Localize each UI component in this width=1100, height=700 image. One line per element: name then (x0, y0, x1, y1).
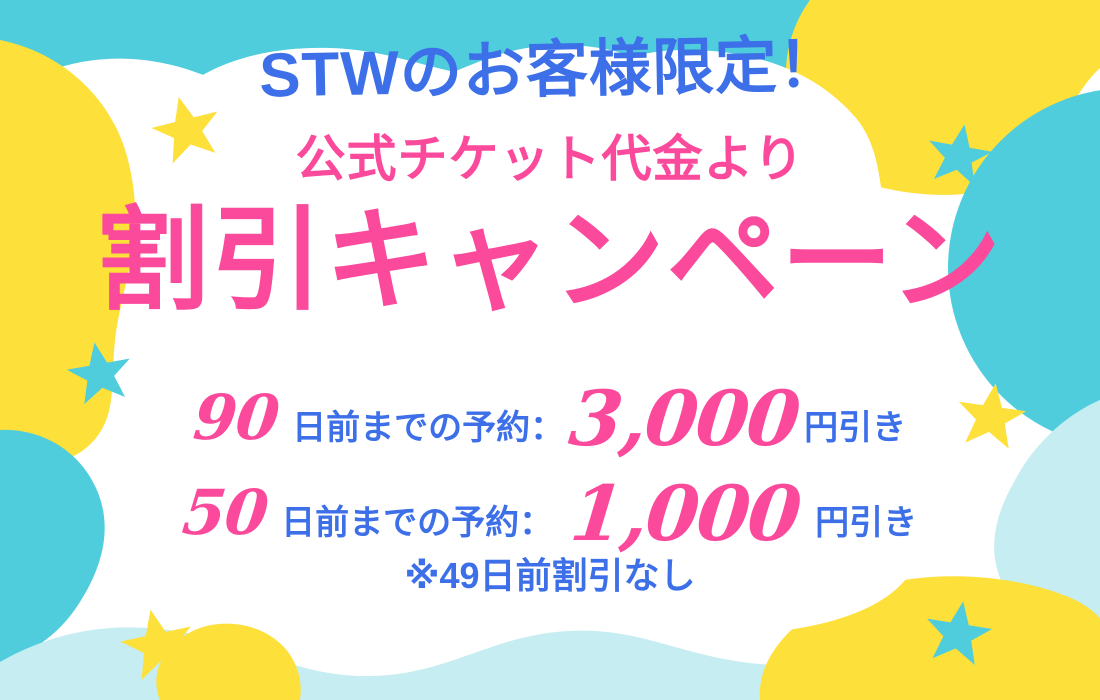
offer-description: 日前までの予約： (292, 400, 564, 449)
offer-currency-suffix: 円引き (815, 495, 917, 544)
banner-content: STWのお客様限定！ 公式チケット代金より 割引キャンペーン 90 日前までの予… (0, 0, 1100, 700)
offer-currency-suffix: 円引き (804, 400, 906, 449)
banner-subheadline: 公式チケット代金より (0, 134, 1100, 184)
offer-discount-amount: 3,000 (566, 381, 802, 457)
banner-footnote: ※49日前割引なし (0, 558, 1100, 594)
campaign-banner: STWのお客様限定！ 公式チケット代金より 割引キャンペーン 90 日前までの予… (0, 0, 1100, 700)
banner-headline: STWのお客様限定！ (0, 29, 1100, 112)
offer-row: 90 日前までの予約： 3,000 円引き (0, 375, 1100, 451)
offer-days-number: 90 (191, 387, 282, 449)
offer-description: 日前までの予約： (281, 495, 553, 544)
offer-discount-amount: 1,000 (567, 476, 803, 552)
banner-main-title: 割引キャンペーン (0, 205, 1100, 317)
offer-days-number: 50 (180, 482, 271, 544)
offer-row: 50 日前までの予約： 1,000 円引き (0, 470, 1100, 546)
